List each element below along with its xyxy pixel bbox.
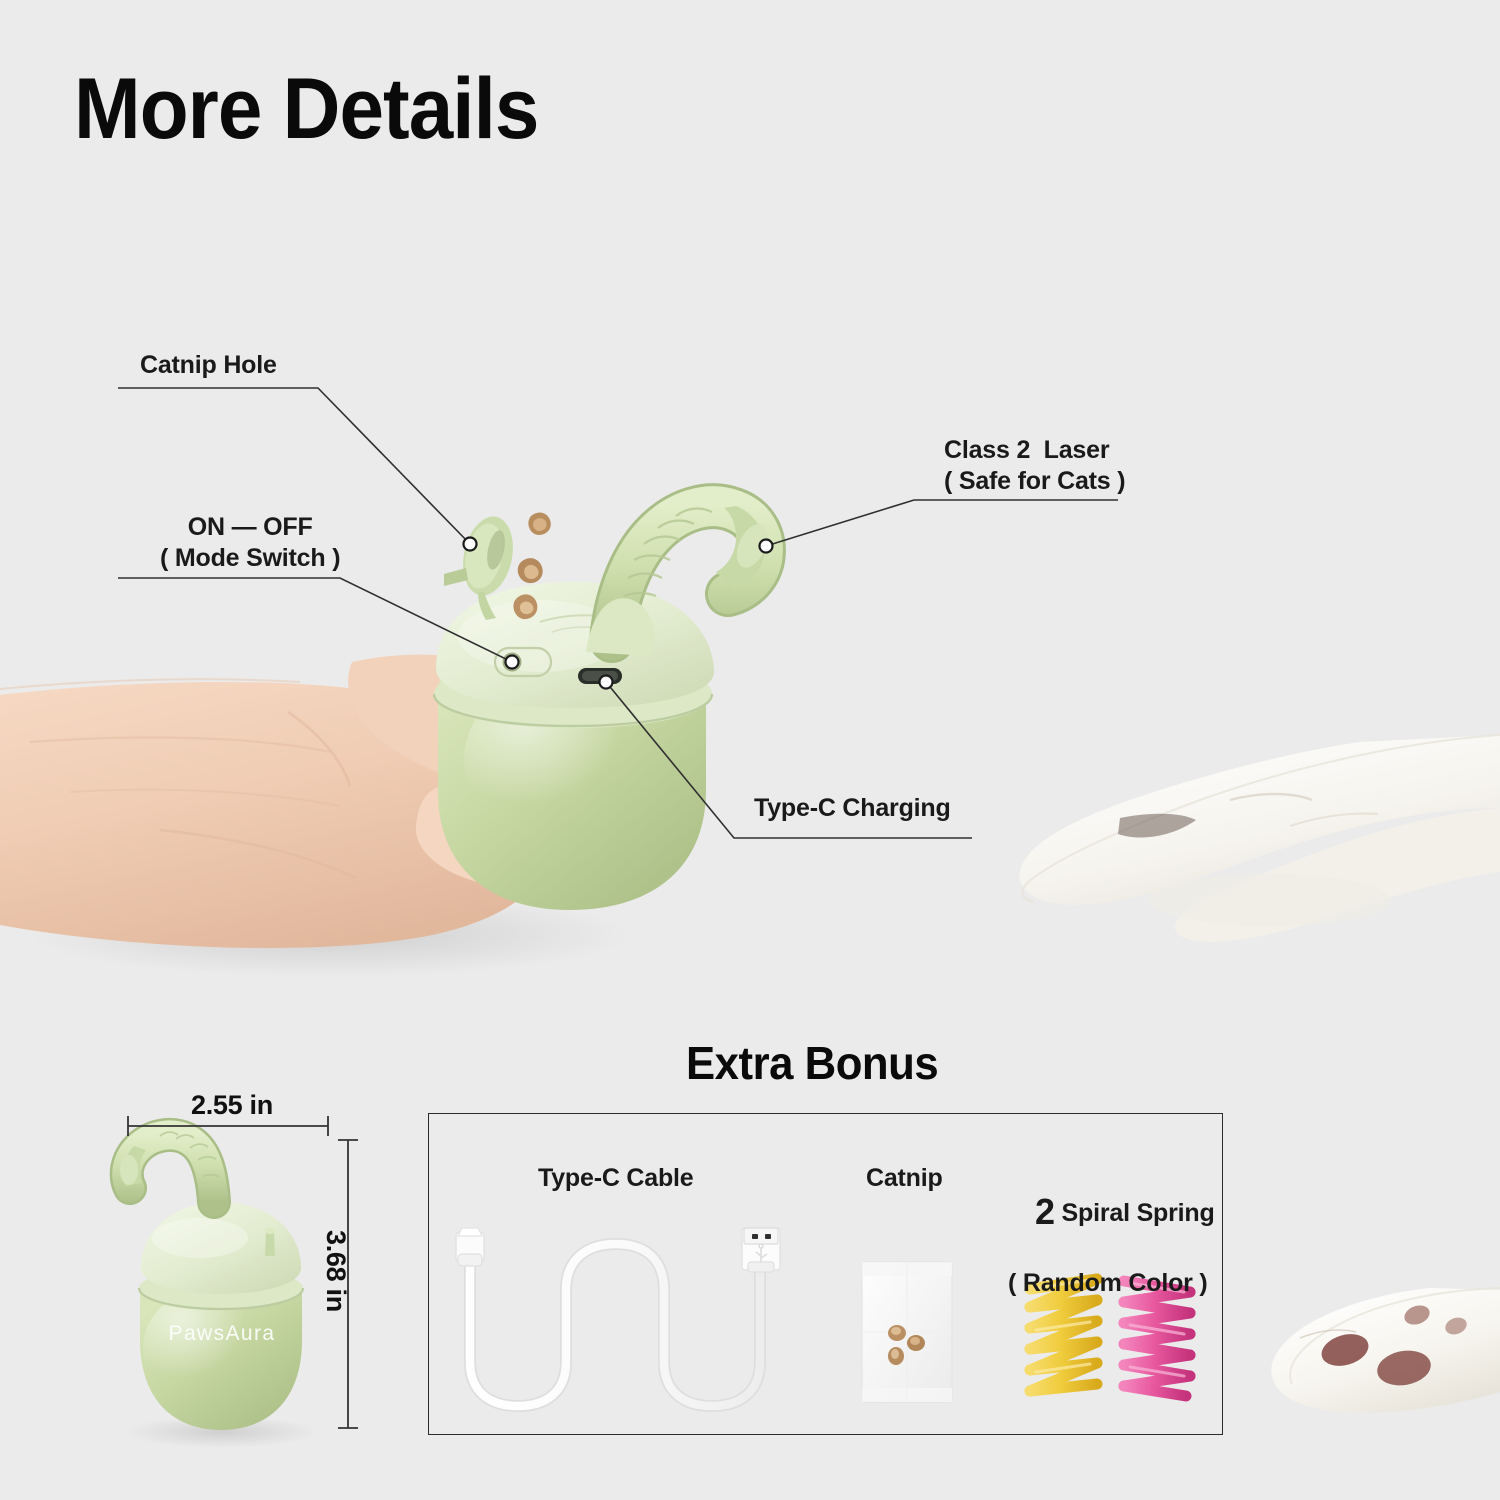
bonus-label-type-c-cable: Type-C Cable (538, 1163, 694, 1194)
bonus-label-spiral-spring: 2 Spiral Spring ( Random Color ) (1008, 1158, 1215, 1361)
callout-label-catnip-hole: Catnip Hole (140, 350, 277, 381)
callout-label-type-c-charging: Type-C Charging (754, 793, 951, 824)
callout-label-mode-switch: ON — OFF ( Mode Switch ) (160, 512, 340, 573)
dimension-height-label: 3.68 in (320, 1230, 351, 1312)
callout-laser-line2: ( Safe for Cats ) (944, 466, 1125, 497)
page-title: More Details (74, 66, 538, 152)
bonus-spring-count: 2 (1035, 1191, 1055, 1232)
cat-paw-lower (1271, 1288, 1500, 1413)
cat-paw-upper (1020, 735, 1500, 942)
callout-laser-line1: Class 2 Laser (944, 435, 1125, 466)
callout-mode-line1: ON — OFF (160, 512, 340, 543)
bonus-spring-sublabel: ( Random Color ) (1008, 1268, 1215, 1299)
bonus-label-catnip: Catnip (866, 1163, 943, 1194)
callout-mode-line2: ( Mode Switch ) (160, 543, 340, 574)
dimension-width-label: 2.55 in (191, 1090, 273, 1121)
bonus-section-title: Extra Bonus (686, 1040, 938, 1086)
svg-text:PawsAura: PawsAura (169, 1322, 276, 1345)
product-detail-page: PawsAura (0, 0, 1500, 1500)
callout-label-laser: Class 2 Laser ( Safe for Cats ) (944, 435, 1125, 496)
bonus-spring-label: Spiral Spring (1055, 1199, 1215, 1227)
product-main (434, 506, 773, 910)
